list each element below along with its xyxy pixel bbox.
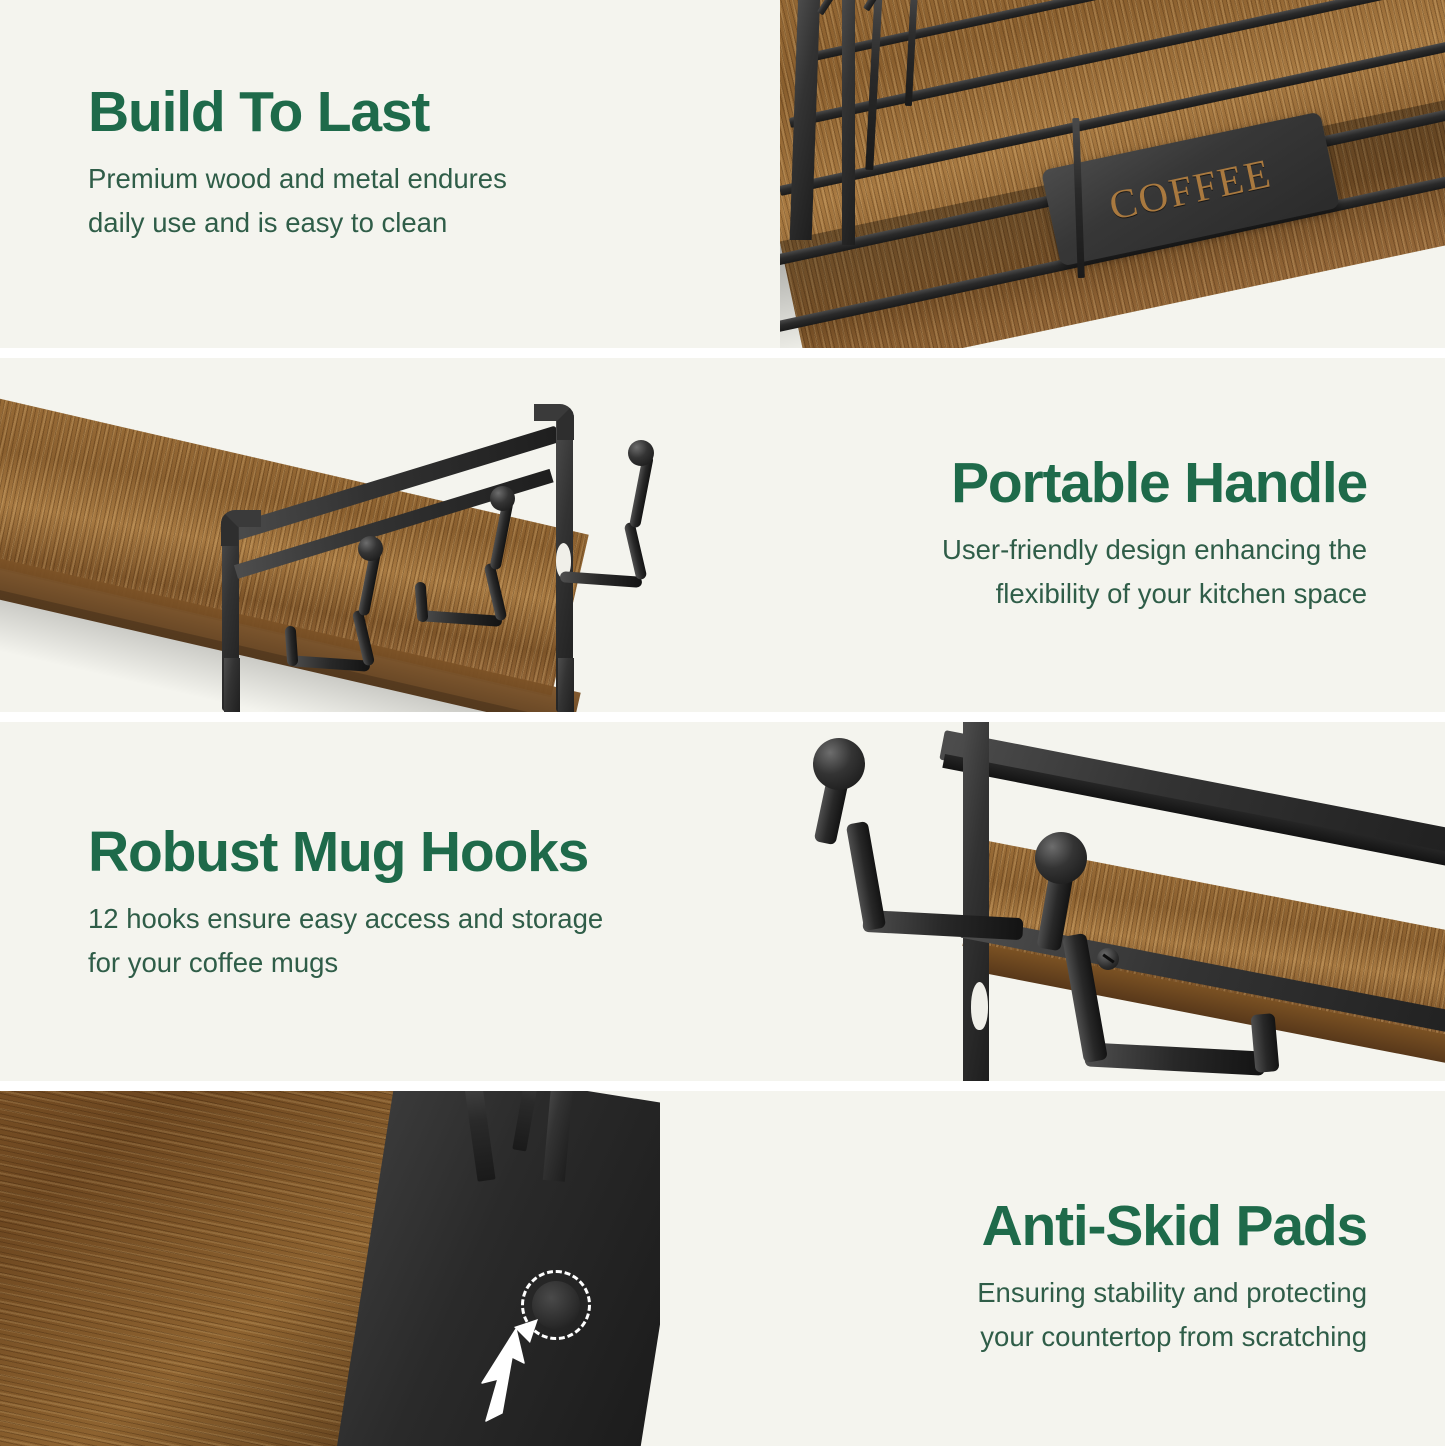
panel-3-text: Robust Mug Hooks 12 hooks ensure easy ac… xyxy=(88,822,728,984)
mug-hooks-image xyxy=(745,722,1445,1081)
portable-handle-image xyxy=(0,358,700,712)
feature-panel-build-to-last: COFFEE Build To Last Premium wood and me… xyxy=(0,0,1445,348)
panel-3-subtext-line-2: for your coffee mugs xyxy=(88,942,728,984)
feature-infographic: COFFEE Build To Last Premium wood and me… xyxy=(0,0,1445,1446)
coffee-nameplate-label: COFFEE xyxy=(1105,148,1276,229)
hook-ball-tip xyxy=(1035,832,1087,884)
panel-4-heading: Anti-Skid Pads xyxy=(707,1196,1367,1256)
keyhole-slot xyxy=(971,982,988,1030)
panel-1-heading: Build To Last xyxy=(88,82,728,142)
panel-3-heading: Robust Mug Hooks xyxy=(88,822,728,882)
feature-panel-portable-handle: Portable Handle User-friendly design enh… xyxy=(0,358,1445,712)
panel-4-subtext-line-1: Ensuring stability and protecting xyxy=(707,1272,1367,1314)
panel-4-text: Anti-Skid Pads Ensuring stability and pr… xyxy=(707,1196,1367,1358)
anti-skid-pad-image xyxy=(0,1091,660,1446)
panel-4-subtext-line-2: your countertop from scratching xyxy=(707,1316,1367,1358)
panel-3-subtext-line-1: 12 hooks ensure easy access and storage xyxy=(88,898,728,940)
panel-2-subtext-line-1: User-friendly design enhancing the xyxy=(707,529,1367,571)
panel-2-heading: Portable Handle xyxy=(707,453,1367,513)
feature-panel-anti-skid-pads: Anti-Skid Pads Ensuring stability and pr… xyxy=(0,1091,1445,1446)
panel-2-text: Portable Handle User-friendly design enh… xyxy=(707,453,1367,615)
hook-ball-tip xyxy=(813,738,865,790)
panel-1-text: Build To Last Premium wood and metal end… xyxy=(88,82,728,244)
coffee-rack-image: COFFEE xyxy=(780,0,1445,348)
callout-arrow-icon xyxy=(468,1313,558,1423)
panel-2-subtext-line-2: flexibility of your kitchen space xyxy=(707,573,1367,615)
feature-panel-robust-mug-hooks: Robust Mug Hooks 12 hooks ensure easy ac… xyxy=(0,722,1445,1081)
panel-1-subtext-line-1: Premium wood and metal endures xyxy=(88,158,728,200)
panel-1-subtext-line-2: daily use and is easy to clean xyxy=(88,202,728,244)
